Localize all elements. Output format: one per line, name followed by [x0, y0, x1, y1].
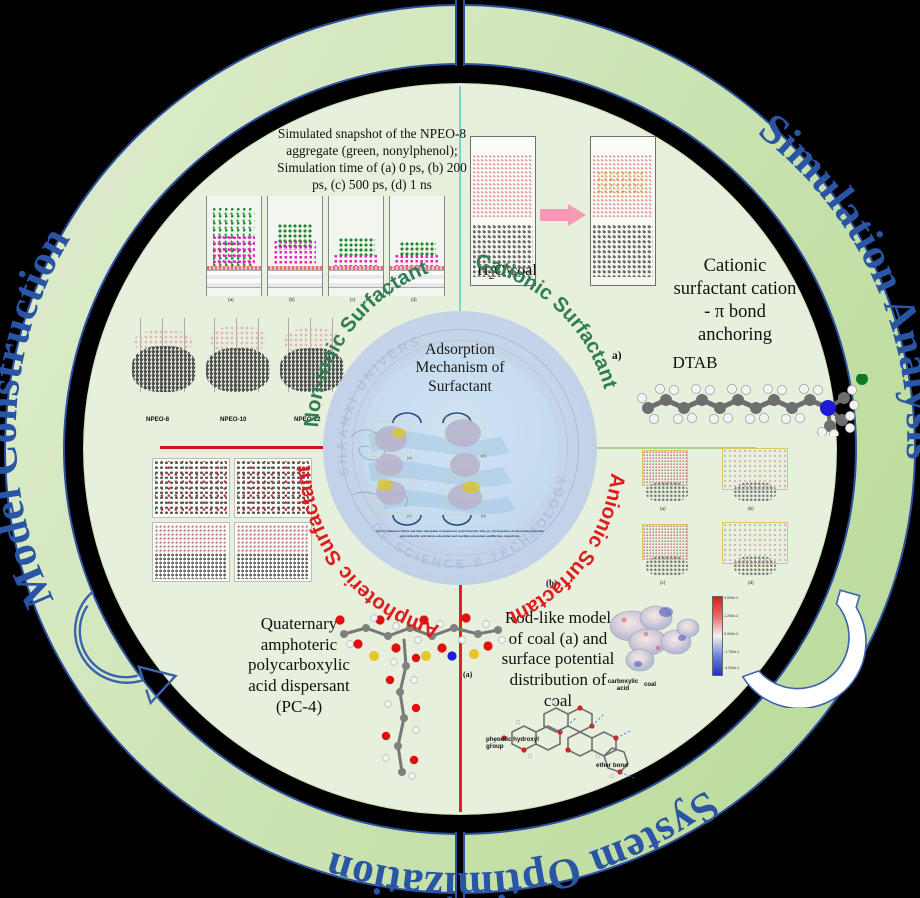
- ring-gap-top: [455, 0, 465, 66]
- panel-tag-b-middle: (b): [546, 578, 557, 588]
- panel-tag-a-bottom: (a): [463, 670, 472, 679]
- transition-arrow-icon: [540, 204, 586, 226]
- npeo-caption: Simulated snapshot of the NPEO-8 aggrega…: [268, 126, 476, 194]
- colorbar-tick: 2.250e-2: [724, 614, 738, 618]
- dtab-molecule: [636, 374, 886, 436]
- annotation-ether-bond: ether bond: [596, 762, 628, 769]
- svg-text:(a): (a): [407, 455, 413, 460]
- svg-text:(d): (d): [481, 513, 487, 518]
- anionic-panels-figure: (a) (b) (c) (d): [636, 448, 806, 594]
- cationic-heading-l2: surfactant cation: [640, 278, 830, 301]
- cationic-heading-l1: Cationic: [640, 255, 830, 278]
- graphical-abstract: Model Construction Simulation Analysis S…: [0, 0, 920, 898]
- annotation-group: group: [486, 743, 558, 750]
- emblem-title-l1: Adsorption: [323, 341, 597, 359]
- coal-structure-molecule: [484, 688, 674, 780]
- panel-tag-a-top: a): [612, 350, 622, 362]
- emblem-title-l2: Mechanism of: [323, 359, 597, 377]
- annotation-acid: acid: [596, 685, 650, 692]
- annotation-carboxylic: carboxylic: [596, 678, 650, 685]
- cationic-heading: Cationic surfactant cation - π bond anch…: [640, 255, 830, 347]
- annotation-phenolic: phenolic hydroxyl: [486, 736, 558, 743]
- emblem-title: Adsorption Mechanism of Surfactant: [323, 341, 597, 396]
- h2o-coal-post: O\coal: [494, 262, 537, 279]
- emblem-title-l3: Surfactant: [323, 378, 597, 396]
- surface-potential-colorbar: [712, 596, 723, 676]
- annotation-phenolic-hydroxyl-group: phenolic hydroxyl group: [486, 736, 558, 751]
- npeo-timeseries-figure: (a) (b) (c) (d): [206, 196, 444, 304]
- colorbar-tick: -4.000e-2: [724, 666, 739, 670]
- dtab-label: DTAB: [640, 353, 750, 373]
- npeo-label: NPEO-8: [146, 416, 169, 423]
- colorbar-tick: -1.750e-2: [724, 650, 739, 654]
- h2o-coal-pre: H: [477, 262, 489, 279]
- cationic-heading-l3: - π bond: [640, 301, 830, 324]
- panel-tag: (b): [748, 506, 754, 511]
- colorbar-tick: 5.000e-3: [724, 632, 738, 636]
- emblem-adsorption-figure: (a)(b) (c)(d): [347, 403, 573, 535]
- center-emblem: SHAANXI UNIVERSITY OF SCIENCE & TECHNOLO…: [323, 311, 597, 585]
- svg-text:(c): (c): [407, 513, 412, 518]
- npeo-aggregates-figure: NPEO-8 NPEO-10 NPEO-12: [130, 318, 344, 440]
- colorbar-tick: 5.000e-2: [724, 596, 738, 600]
- panel-tag: (d): [411, 297, 417, 302]
- panel-tag: (c): [350, 297, 355, 302]
- npeo-label: NPEO-12: [294, 416, 320, 423]
- amphoteric-panels-figure: [152, 458, 312, 582]
- panel-tag: (a): [660, 506, 666, 511]
- emblem-caption: (a), (b) Snapshots before and after adso…: [375, 529, 545, 539]
- cationic-heading-l4: anchoring: [640, 324, 830, 347]
- npeo-label: NPEO-10: [220, 416, 246, 423]
- panel-tag: (b): [289, 297, 295, 302]
- h2o-coal-label: H2O\coal: [452, 262, 562, 282]
- panel-tag: (c): [660, 580, 665, 585]
- arrow-left-icon: [62, 568, 198, 708]
- ring-gap-bottom: [455, 832, 465, 898]
- panel-tag: (d): [748, 580, 754, 585]
- svg-text:(b): (b): [481, 453, 487, 458]
- panel-tag: (a): [228, 297, 234, 302]
- coal-surface-potential-blob: coal: [588, 598, 718, 690]
- annotation-carboxylic-acid: carboxylic acid: [596, 678, 650, 693]
